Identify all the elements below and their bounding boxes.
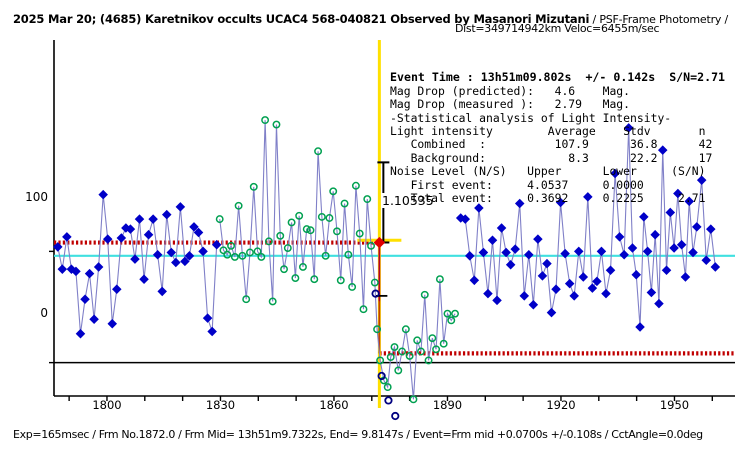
data-point-diamond [176, 203, 184, 211]
data-point-diamond [597, 247, 605, 255]
data-point-diamond [579, 273, 587, 281]
data-point-diamond [615, 233, 623, 241]
data-point-diamond [158, 287, 166, 295]
data-point-diamond [702, 256, 710, 264]
y-axis-label-100: 100 [20, 190, 48, 204]
data-point-diamond [711, 263, 719, 271]
data-point-diamond [144, 230, 152, 238]
data-point-diamond [99, 190, 107, 198]
data-point-diamond [529, 301, 537, 309]
data-point-diamond [104, 235, 112, 243]
panel-row-combined: Combined : 107.9 36.8 42 [390, 138, 750, 151]
panel-row-first-event: First event: 4.0537 0.0000 [390, 179, 750, 192]
data-point-diamond [588, 284, 596, 292]
data-point-diamond [135, 215, 143, 223]
data-point-diamond [520, 292, 528, 300]
y-axis-label-0: 0 [20, 306, 48, 320]
footer-status-bar: Exp=165msec / Frm No.1872.0 / Frm Mid= 1… [13, 428, 703, 441]
data-point-diamond [488, 236, 496, 244]
series-target-blue-before [54, 190, 221, 337]
statistics-panel: Event Time : 13h51m09.802s +/- 0.142s S/… [390, 58, 750, 232]
data-point-diamond [172, 258, 180, 266]
event-accent-point [392, 413, 398, 419]
panel-mag-drop-predicted: Mag Drop (predicted): 4.6 Mag. [390, 85, 750, 98]
data-point-diamond [163, 210, 171, 218]
data-point-diamond [575, 247, 583, 255]
data-point-diamond [90, 315, 98, 323]
data-point-diamond [117, 234, 125, 242]
data-point-diamond [570, 292, 578, 300]
data-point-diamond [511, 245, 519, 253]
panel-noise-header: Noise Level (N/S) Upper Lower (S/N) [390, 165, 750, 178]
data-point-diamond [199, 247, 207, 255]
x-axis-tick-label: 1890 [433, 398, 462, 412]
panel-row-total-event: Total event: 0.3692 0.2225 2.71 [390, 192, 750, 205]
data-point-diamond [662, 266, 670, 274]
data-point-diamond [647, 288, 655, 296]
data-point-diamond [525, 251, 533, 259]
data-point-diamond [534, 235, 542, 243]
data-point-diamond [636, 323, 644, 331]
data-point-diamond [203, 314, 211, 322]
data-point-diamond [602, 289, 610, 297]
event-accent-point [385, 397, 391, 403]
x-axis-tick-label: 1920 [546, 398, 575, 412]
x-axis-tick-label: 1860 [319, 398, 348, 412]
app-root: 2025 Mar 20; (4685) Karetnikov occults U… [0, 0, 750, 452]
data-point-diamond [493, 296, 501, 304]
panel-table-header: Light intensity Average Stdv n [390, 125, 750, 138]
data-point-diamond [94, 263, 102, 271]
data-point-diamond [552, 285, 560, 293]
data-point-diamond [593, 277, 601, 285]
data-point-diamond [677, 241, 685, 249]
series-connector-line [58, 195, 217, 334]
x-axis-tick-label: 1830 [206, 398, 235, 412]
data-point-diamond [466, 252, 474, 260]
data-point-diamond [620, 251, 628, 259]
panel-mag-drop-measured: Mag Drop (measured ): 2.79 Mag. [390, 98, 750, 111]
data-point-diamond [140, 275, 148, 283]
data-point-diamond [113, 285, 121, 293]
data-point-diamond [643, 247, 651, 255]
data-point-diamond [153, 251, 161, 259]
data-point-diamond [681, 273, 689, 281]
data-point-diamond [85, 269, 93, 277]
data-point-diamond [470, 276, 478, 284]
data-point-diamond [63, 233, 71, 241]
data-point-diamond [506, 261, 514, 269]
data-point-diamond [108, 319, 116, 327]
data-point-diamond [565, 279, 573, 287]
data-point-diamond [58, 265, 66, 273]
panel-event-time: Event Time : 13h51m09.802s +/- 0.142s S/… [390, 71, 750, 84]
data-point-diamond [670, 244, 678, 252]
panel-row-background: Background: 8.3 22.2 17 [390, 152, 750, 165]
data-point-diamond [149, 215, 157, 223]
data-point-diamond [208, 327, 216, 335]
x-axis-tick-label: 1800 [92, 398, 121, 412]
data-point-diamond [538, 272, 546, 280]
data-point-diamond [628, 244, 636, 252]
data-point-diamond [606, 266, 614, 274]
data-point-diamond [484, 289, 492, 297]
x-axis-tick-label: 1950 [660, 398, 689, 412]
data-point-diamond [655, 299, 663, 307]
data-point-diamond [543, 259, 551, 267]
data-point-diamond [632, 271, 640, 279]
panel-stats-header: -Statistical analysis of Light Intensity… [390, 112, 750, 125]
data-point-diamond [76, 330, 84, 338]
data-point-diamond [547, 308, 555, 316]
data-point-diamond [81, 295, 89, 303]
